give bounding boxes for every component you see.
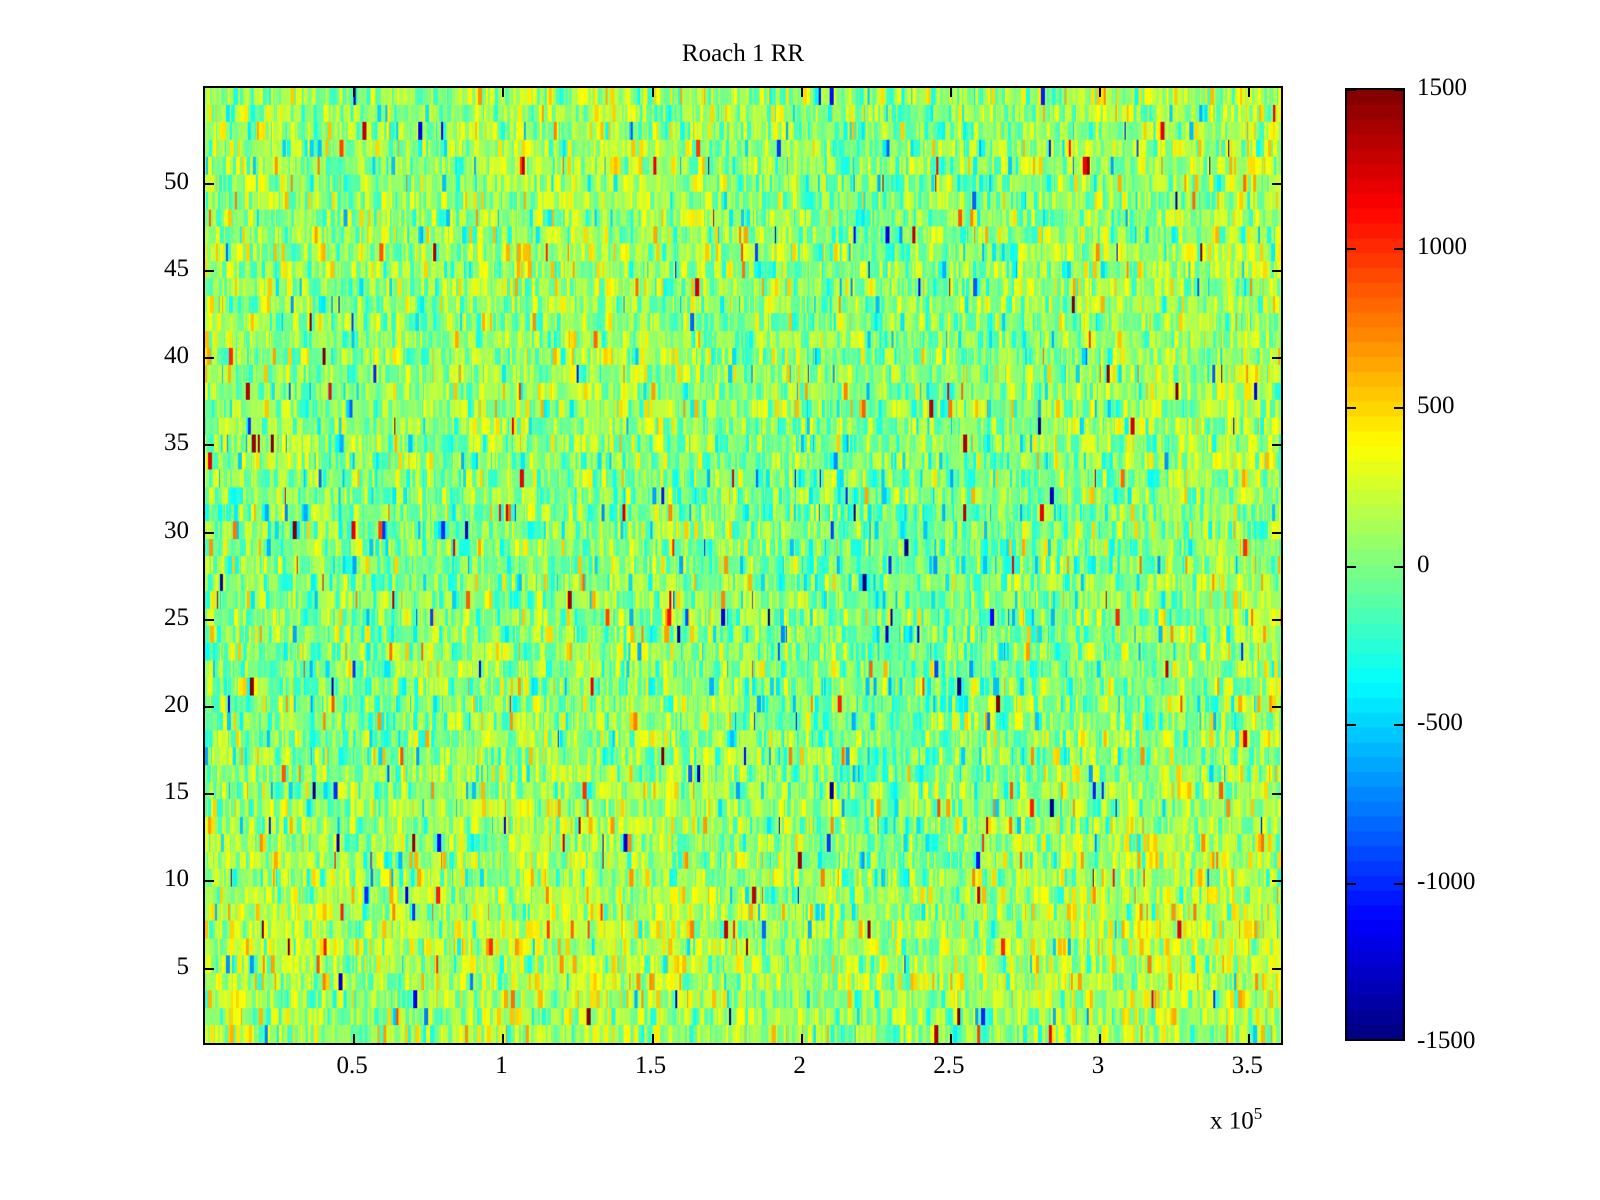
y-tick-mark: [205, 270, 214, 272]
colorbar-tick-mark: [1394, 89, 1403, 91]
y-tick-mark: [205, 444, 214, 446]
y-tick-mark: [205, 183, 214, 185]
y-tick-mark: [1272, 968, 1281, 970]
y-tick-mark: [205, 793, 214, 795]
y-tick-mark: [205, 357, 214, 359]
y-tick-mark: [1272, 706, 1281, 708]
x-tick-label: 2: [793, 1052, 806, 1080]
colorbar-tick-mark: [1394, 248, 1403, 250]
heatmap-image[interactable]: [205, 88, 1281, 1043]
colorbar-tick-mark: [1347, 407, 1356, 409]
y-tick-mark: [205, 880, 214, 882]
y-tick-mark: [1272, 793, 1281, 795]
x-tick-mark: [353, 1034, 355, 1043]
y-tick-label: 40: [164, 342, 189, 370]
x-axis-exponent-label: x 105: [1210, 1104, 1262, 1135]
colorbar-tick-mark: [1394, 407, 1403, 409]
heatmap-axes[interactable]: [203, 86, 1283, 1045]
colorbar-tick-label: -1500: [1417, 1027, 1475, 1055]
x-tick-mark: [502, 1034, 504, 1043]
y-tick-mark: [1272, 444, 1281, 446]
y-tick-mark: [1272, 880, 1281, 882]
colorbar-tick-mark: [1394, 566, 1403, 568]
y-tick-label: 45: [164, 255, 189, 283]
y-tick-label: 20: [164, 691, 189, 719]
x-tick-mark: [1099, 1034, 1101, 1043]
page-title: Roach 1 RR: [203, 40, 1283, 68]
colorbar-tick-mark: [1347, 724, 1356, 726]
colorbar-tick-label: 0: [1417, 551, 1430, 579]
x-tick-mark: [353, 88, 355, 97]
x-tick-label: 3: [1092, 1052, 1105, 1080]
matlab-figure-window: Roach 1 RR 0.511.522.533.5 5101520253035…: [0, 0, 1600, 1200]
x-tick-mark: [652, 88, 654, 97]
x-tick-label: 1.5: [635, 1052, 666, 1080]
y-tick-mark: [1272, 183, 1281, 185]
y-tick-label: 50: [164, 168, 189, 196]
y-tick-label: 30: [164, 517, 189, 545]
x-tick-mark: [950, 1034, 952, 1043]
colorbar-tick-mark: [1394, 724, 1403, 726]
colorbar[interactable]: [1345, 88, 1405, 1041]
y-tick-mark: [205, 706, 214, 708]
x-exponent-mantissa: x 10: [1210, 1107, 1254, 1134]
y-tick-label: 35: [164, 429, 189, 457]
x-tick-label: 3.5: [1232, 1052, 1263, 1080]
colorbar-gradient: [1347, 90, 1403, 1039]
y-tick-mark: [1272, 357, 1281, 359]
y-tick-label: 5: [177, 953, 190, 981]
y-tick-mark: [205, 968, 214, 970]
y-tick-label: 10: [164, 865, 189, 893]
x-tick-mark: [1248, 1034, 1250, 1043]
y-tick-mark: [205, 619, 214, 621]
y-tick-mark: [1272, 270, 1281, 272]
colorbar-tick-label: -1000: [1417, 868, 1475, 896]
y-tick-mark: [1272, 619, 1281, 621]
colorbar-tick-mark: [1347, 89, 1356, 91]
x-tick-mark: [950, 88, 952, 97]
x-tick-label: 1: [495, 1052, 508, 1080]
x-tick-mark: [1099, 88, 1101, 97]
y-tick-mark: [205, 532, 214, 534]
x-tick-label: 0.5: [337, 1052, 368, 1080]
y-tick-label: 25: [164, 604, 189, 632]
colorbar-tick-mark: [1347, 883, 1356, 885]
x-tick-mark: [801, 88, 803, 97]
colorbar-tick-label: 1500: [1417, 74, 1467, 102]
x-tick-mark: [801, 1034, 803, 1043]
colorbar-tick-label: 1000: [1417, 233, 1467, 261]
x-tick-label: 2.5: [933, 1052, 964, 1080]
y-tick-mark: [1272, 532, 1281, 534]
colorbar-tick-label: -500: [1417, 709, 1463, 737]
colorbar-tick-mark: [1347, 566, 1356, 568]
x-tick-mark: [502, 88, 504, 97]
colorbar-tick-mark: [1394, 883, 1403, 885]
colorbar-tick-label: 500: [1417, 392, 1455, 420]
x-exponent-power: 5: [1254, 1104, 1263, 1123]
x-tick-mark: [1248, 88, 1250, 97]
colorbar-tick-mark: [1347, 248, 1356, 250]
y-tick-label: 15: [164, 778, 189, 806]
x-tick-mark: [652, 1034, 654, 1043]
